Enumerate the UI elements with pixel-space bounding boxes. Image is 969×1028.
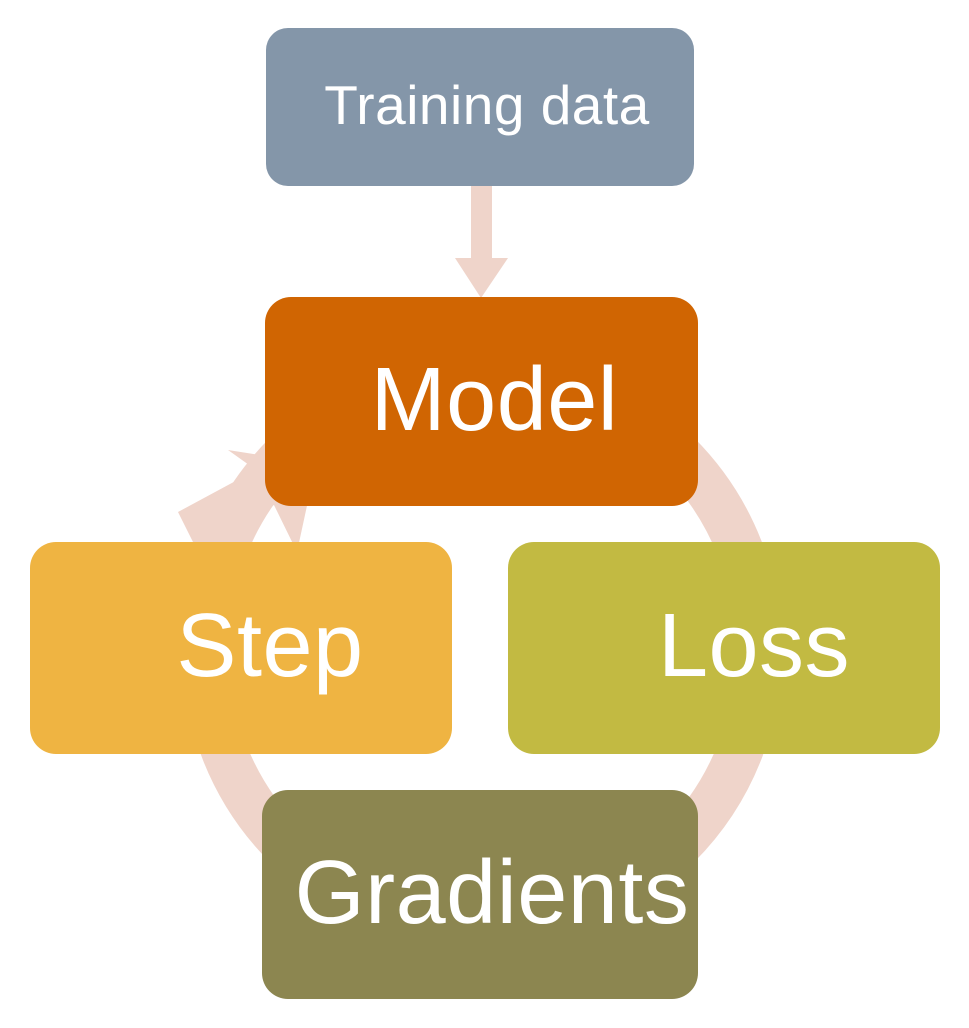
node-loss[interactable]: Loss [508, 542, 940, 754]
node-training-data[interactable]: Training data [266, 28, 694, 186]
node-step-label: Step [118, 601, 363, 691]
feed-arrow-shaft [471, 186, 492, 264]
node-training-data-label: Training data [310, 78, 650, 133]
node-loss-label: Loss [598, 601, 850, 691]
node-step[interactable]: Step [30, 542, 452, 754]
node-model[interactable]: Model [265, 297, 698, 506]
feed-arrow [455, 186, 508, 298]
diagram-canvas: Training data Model Step Loss Gradients [0, 0, 969, 1028]
node-model-label: Model [345, 355, 619, 445]
node-gradients-label: Gradients [271, 848, 690, 938]
node-gradients[interactable]: Gradients [262, 790, 698, 999]
feed-arrow-head [455, 258, 508, 298]
